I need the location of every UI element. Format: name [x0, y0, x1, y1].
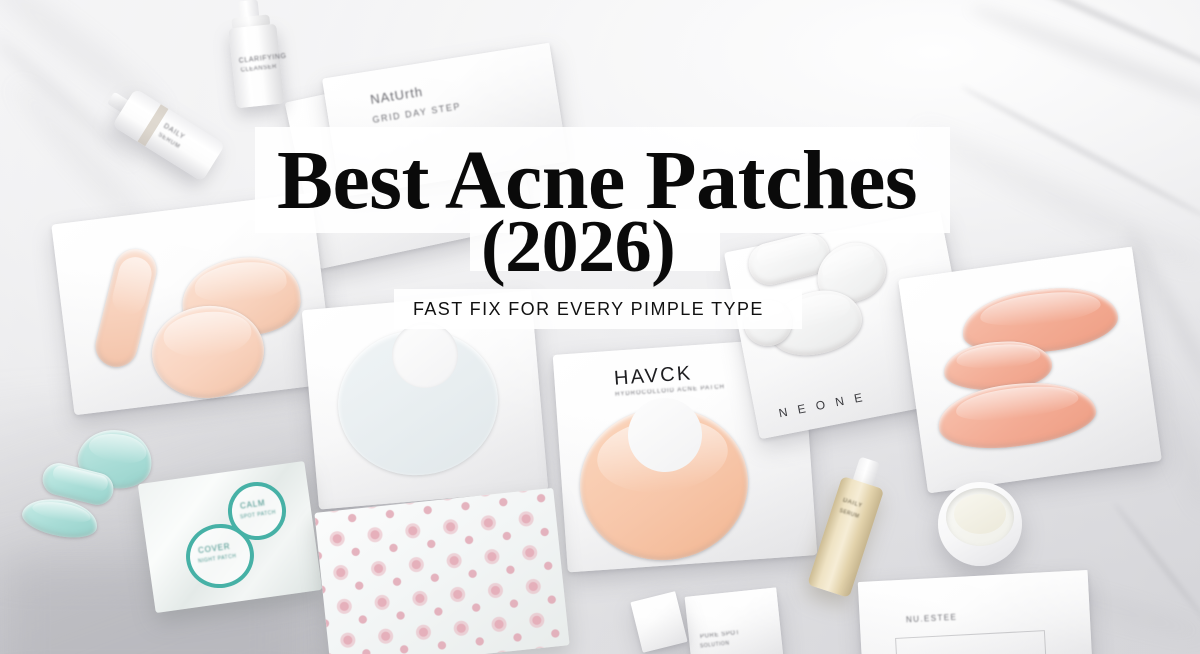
headline-line2: (2026) — [481, 210, 675, 284]
subtitle-text: FAST FIX FOR EVERY PIMPLE TYPE — [413, 300, 764, 318]
cream-jar — [938, 482, 1022, 566]
floral-patch-grid — [314, 488, 569, 654]
floral-patch-sheet — [314, 488, 569, 654]
marble-vein — [910, 116, 1200, 280]
cream-jar-contents — [954, 494, 1006, 534]
hero-image: NAtUrth GRID DAY STEP CLARIFYING CLEANSE… — [0, 0, 1200, 654]
spray-bottle: CLARIFYING CLEANSER — [228, 16, 285, 109]
marble-vein — [967, 0, 1200, 123]
